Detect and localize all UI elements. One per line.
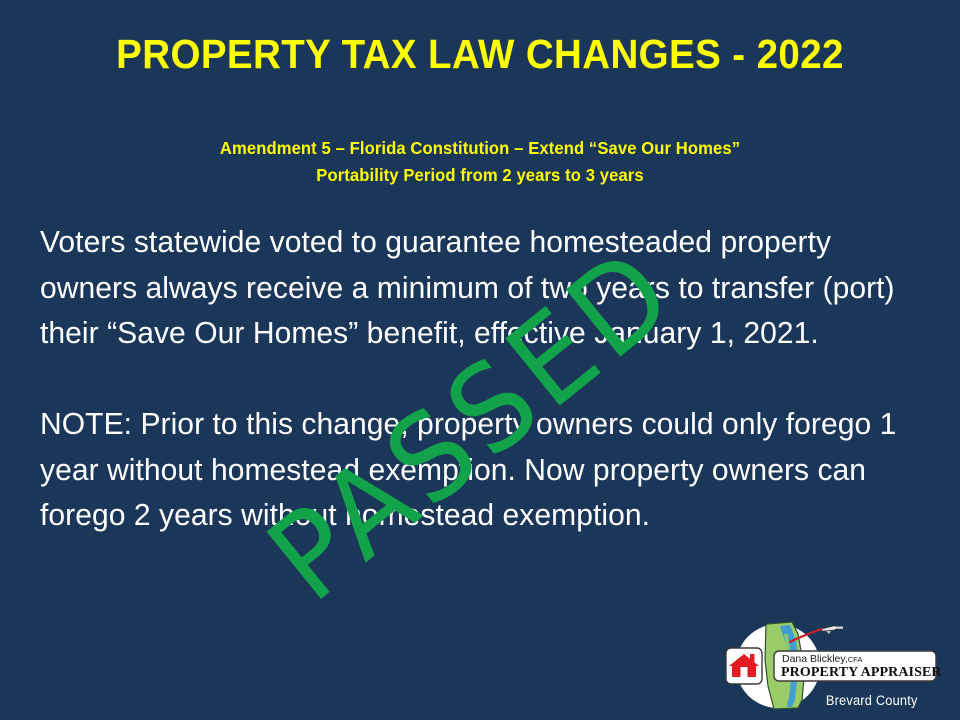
body-paragraph-1: Voters statewide voted to guarantee home… [40, 220, 905, 357]
logo-county-line: Brevard County [826, 693, 918, 708]
subtitle-line-2: Portability Period from 2 years to 3 yea… [24, 162, 936, 189]
subtitle-line-1: Amendment 5 – Florida Constitution – Ext… [24, 135, 936, 162]
body-paragraph-2-note: NOTE: Prior to this change, property own… [40, 402, 905, 539]
slide-subtitle: Amendment 5 – Florida Constitution – Ext… [0, 135, 960, 189]
logo-credential: CFA [848, 655, 863, 664]
page-title: PROPERTY TAX LAW CHANGES - 2022 [29, 31, 931, 77]
rocket-icon [822, 626, 843, 634]
logo-office-line: PROPERTY APPRAISER [781, 665, 942, 680]
property-appraiser-logo: Dana Blickley,CFA PROPERTY APPRAISER Bre… [718, 616, 944, 712]
slide-body: Voters statewide voted to guarantee home… [40, 220, 918, 539]
logo-name-line: Dana Blickley,CFA [782, 653, 862, 665]
slide-canvas: PROPERTY TAX LAW CHANGES - 2022 Amendmen… [0, 0, 960, 720]
